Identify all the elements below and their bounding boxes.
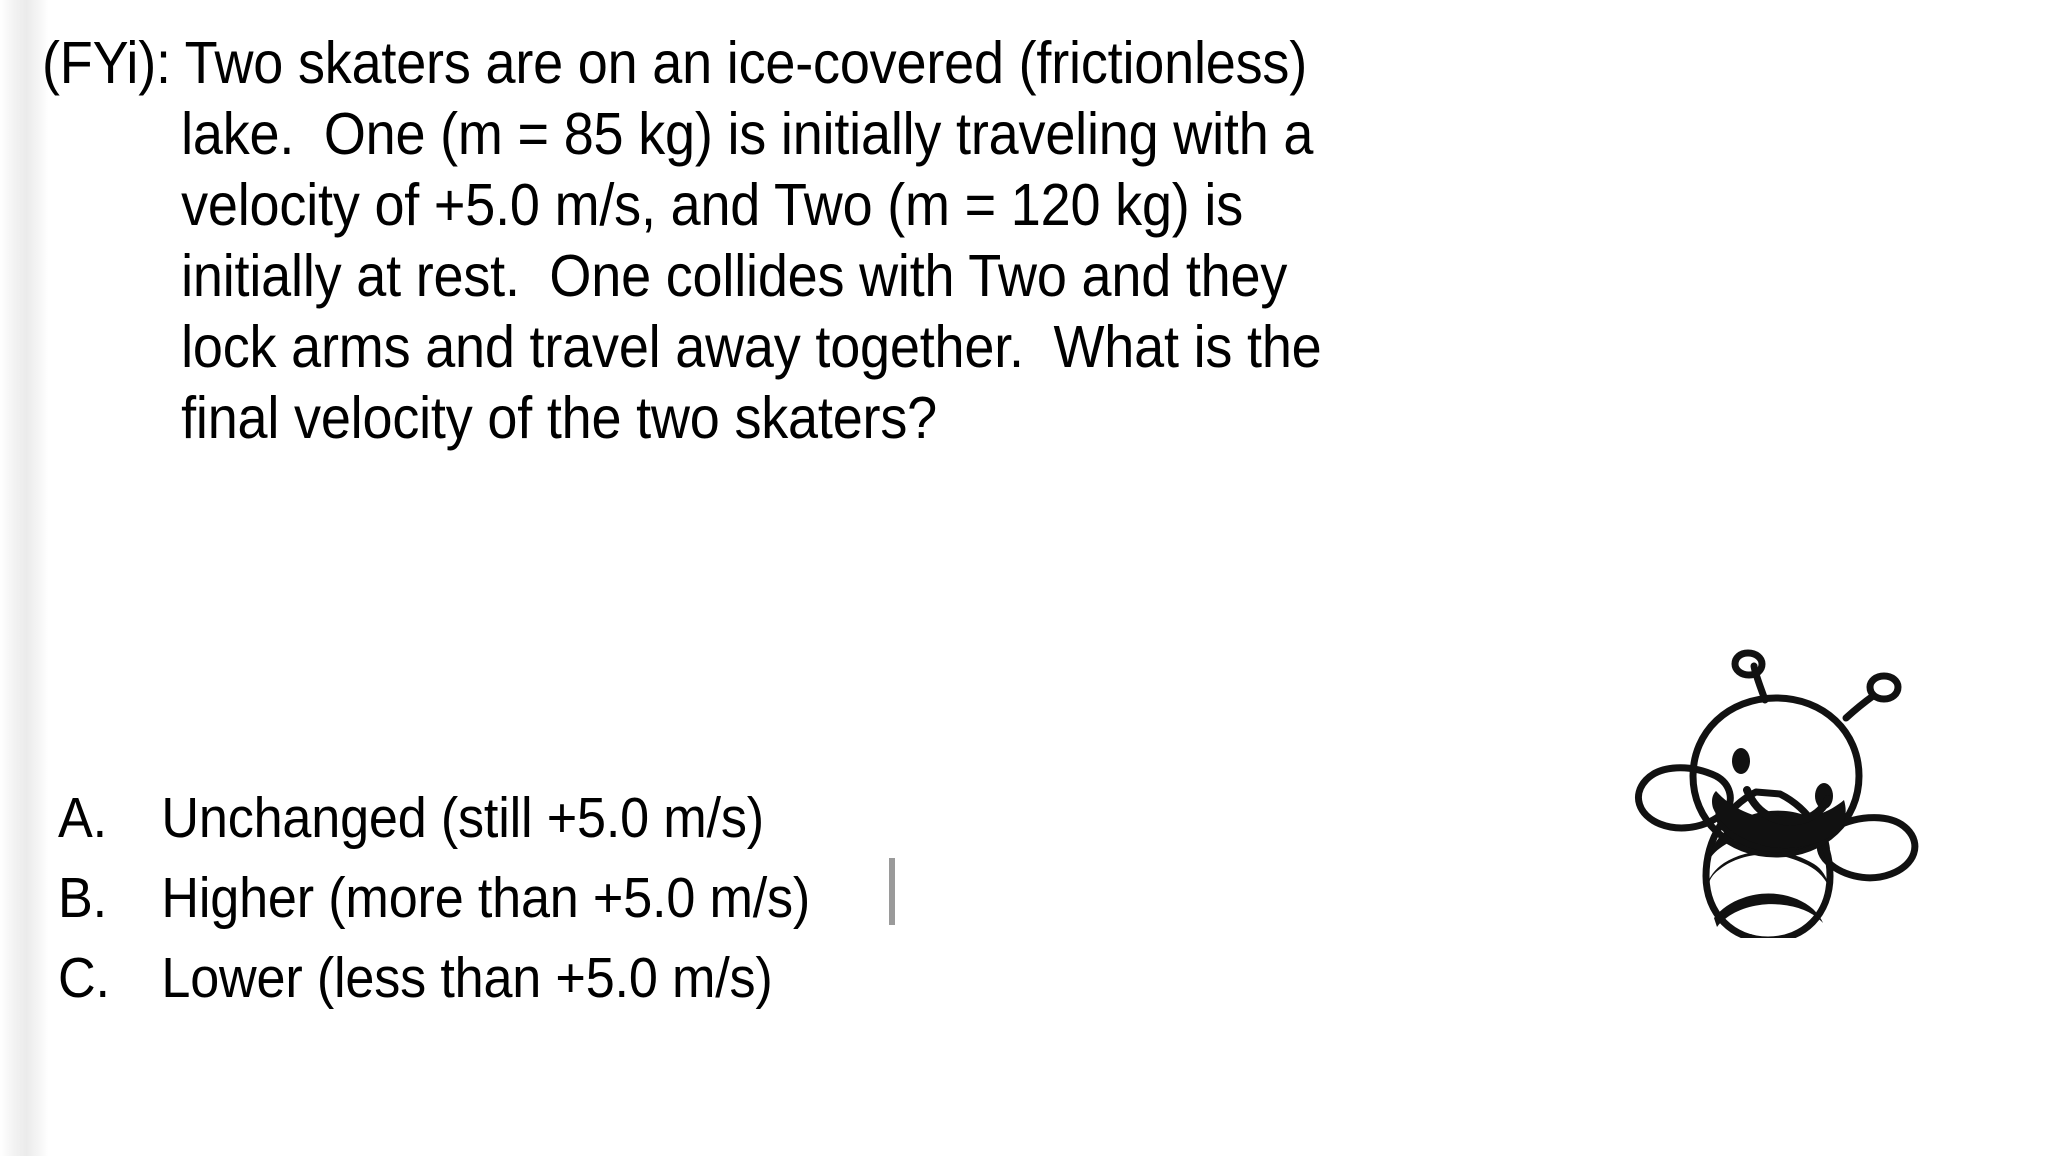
option-row-c[interactable]: C. Lower (less than +5.0 m/s) xyxy=(58,938,1248,1018)
question-line-6: final velocity of the two skaters? xyxy=(42,383,1469,454)
question-line-2: lake. One (m = 85 kg) is initially trave… xyxy=(42,99,1469,170)
option-letter-b: B. xyxy=(58,858,161,938)
question-line-3: velocity of +5.0 m/s, and Two (m = 120 k… xyxy=(42,170,1469,241)
question-line-4: initially at rest. One collides with Two… xyxy=(42,241,1469,312)
answer-options-list[interactable]: A. Unchanged (still +5.0 m/s) B. Higher … xyxy=(58,778,1358,1018)
option-letter-c: C. xyxy=(58,938,161,1018)
question-line-5: lock arms and travel away together. What… xyxy=(42,312,1469,383)
slide-canvas: (FYi): Two skaters are on an ice-covered… xyxy=(0,0,2072,1156)
left-edge-gradient xyxy=(0,0,48,1156)
question-text-block[interactable]: (FYi): Two skaters are on an ice-covered… xyxy=(42,28,1602,454)
option-letter-a: A. xyxy=(58,778,161,858)
option-row-b[interactable]: B. Higher (more than +5.0 m/s) xyxy=(58,858,1248,938)
bumblebee-icon xyxy=(1628,628,1938,938)
option-row-a[interactable]: A. Unchanged (still +5.0 m/s) xyxy=(58,778,1248,858)
option-text-c: Lower (less than +5.0 m/s) xyxy=(161,938,772,1018)
option-text-a: Unchanged (still +5.0 m/s) xyxy=(161,778,764,858)
question-line-1: (FYi): Two skaters are on an ice-covered… xyxy=(42,28,1469,99)
option-text-b: Higher (more than +5.0 m/s) xyxy=(161,858,810,938)
